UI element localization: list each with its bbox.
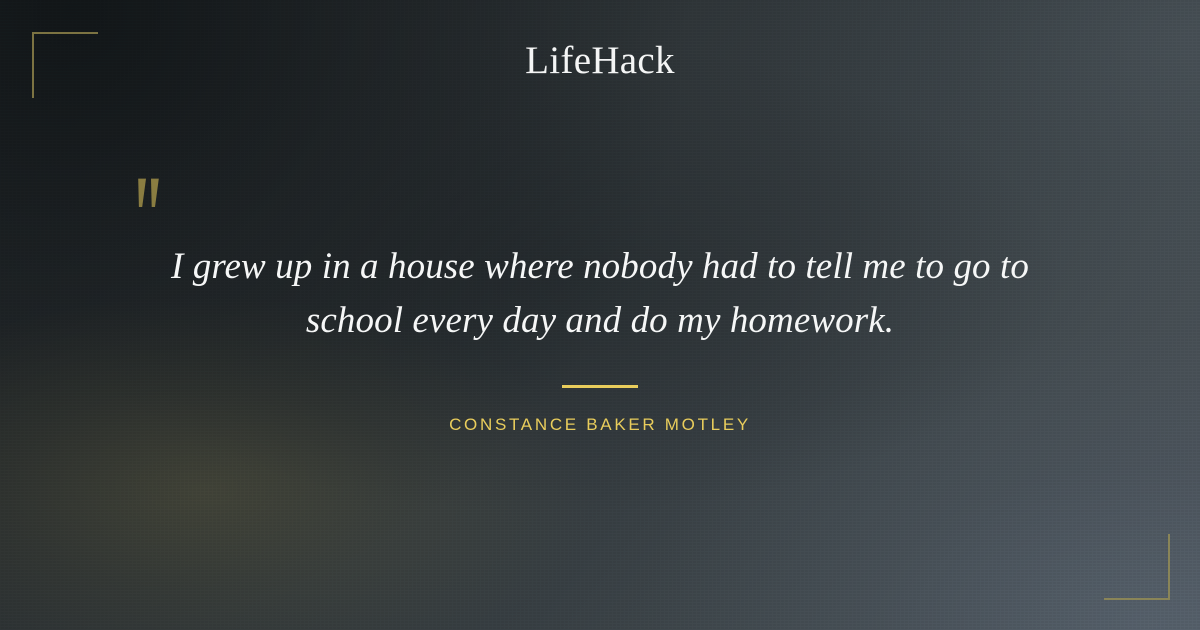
gold-divider: [562, 385, 638, 388]
quote-text: I grew up in a house where nobody had to…: [100, 240, 1100, 348]
quote-line: I grew up in a house where nobody had to…: [100, 240, 1100, 294]
quote-card: LifeHack I grew up in a house where nobo…: [0, 0, 1200, 630]
double-quote-icon: [132, 176, 176, 220]
divider-container: [0, 384, 1200, 388]
quote-author: CONSTANCE BAKER MOTLEY: [0, 414, 1200, 436]
corner-bracket-bottom-right-icon: [1104, 534, 1170, 600]
brand-logo: LifeHack: [0, 38, 1200, 84]
quote-line: school every day and do my homework.: [100, 294, 1100, 348]
